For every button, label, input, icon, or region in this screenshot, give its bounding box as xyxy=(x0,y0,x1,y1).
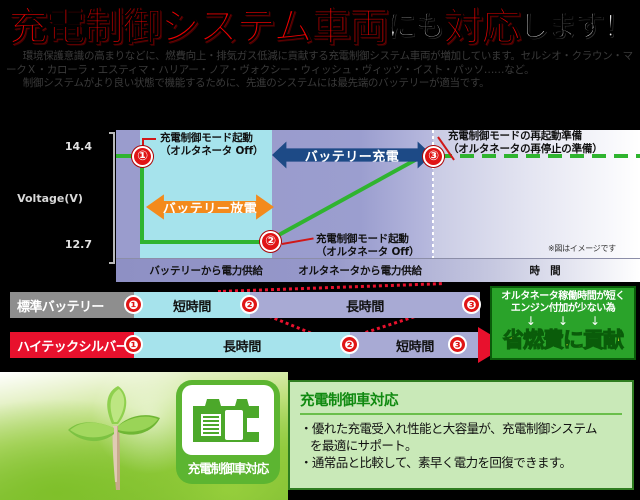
chart-y-axis-title: Voltage(V) xyxy=(8,192,92,205)
chart-marker-2: ② xyxy=(260,231,281,252)
row-standard-seg-short: 短時間 xyxy=(134,292,250,318)
title-red-part-1: 充電制御システム車両 xyxy=(9,0,388,52)
callout-1-title: 充電制御モード起動 xyxy=(160,132,263,145)
callout-1-arm xyxy=(142,138,156,140)
x-axis-label-time: 時 間 xyxy=(500,263,590,278)
info-box-item-1-line-2: を最適にサポート。 xyxy=(300,437,622,454)
sprout-illustration xyxy=(62,386,170,498)
callout-3-sub: （オルタネータの再停止の準備） xyxy=(448,143,603,156)
info-box: 充電制御車対応 ・優れた充電受入れ性能と大容量が、充電制御システム を最適にサポ… xyxy=(288,380,634,490)
callout-3: 充電制御モードの再起動準備 （オルタネータの再停止の準備） xyxy=(448,130,603,155)
benefit-headline: 省燃費に貢献 xyxy=(492,328,634,352)
row-hitec-marker-1: ❶ xyxy=(124,335,143,354)
title-white-part-1: にも xyxy=(387,3,443,45)
page-title: 充電制御システム車両 にも 対応 します！ xyxy=(0,0,640,48)
chart-plot-area: バッテリー充電 バッテリー放電 充電制御モード起動 （オルタネータ Off） 充… xyxy=(116,130,640,282)
benefit-line-1: オルタネータ稼働時間が短く xyxy=(492,291,634,303)
row-hitec-marker-2: ❷ xyxy=(340,335,359,354)
bottom-section: 充電制御車対応 充電制御車対応 ・優れた充電受入れ性能と大容量が、充電制御システ… xyxy=(0,372,640,500)
line-seg-low-flat xyxy=(140,240,268,244)
line-seg-drop xyxy=(140,154,144,244)
row-standard-battery: 短時間 長時間 標準バッテリー ❶ ❷ ❸ xyxy=(10,292,480,318)
title-red-part-2: 対応 xyxy=(443,0,519,52)
info-box-title: 充電制御車対応 xyxy=(300,389,622,415)
benefit-callout-box: オルタネータ稼働時間が短く エンジン付加が少ない為 ↓↓↓ 省燃費に貢献 xyxy=(490,286,636,360)
callout-3-title: 充電制御モードの再起動準備 xyxy=(448,130,603,143)
chart-marker-1: ① xyxy=(132,146,153,167)
row-standard-label: 標準バッテリー xyxy=(10,292,134,318)
charge-control-badge: 充電制御車対応 xyxy=(176,380,280,484)
callout-1-sub: （オルタネータ Off） xyxy=(160,145,263,158)
chart-y-axis-cap-bottom xyxy=(109,262,115,264)
lead-paragraph-1: 環境保護意識の高まりなどに、燃費向上・排気ガス低減に貢献する充電制御システム車両… xyxy=(6,50,634,77)
callout-2-title: 充電制御モード起動 xyxy=(316,233,419,246)
comparison-section: 短時間 長時間 標準バッテリー ❶ ❷ ❸ 長時間 短時間 ハイテックシルバーⅡ… xyxy=(0,284,640,368)
chart-y-tick-high: 14.4 xyxy=(50,140,92,153)
info-box-item-1: ・優れた充電受入れ性能と大容量が、充電制御システム を最適にサポート。 xyxy=(300,420,622,454)
info-box-item-2: ・通常品と比較して、素早く電力を回復できます。 xyxy=(300,454,622,471)
badge-label: 充電制御車対応 xyxy=(188,458,269,477)
seedling-photo: 充電制御車対応 xyxy=(0,372,288,500)
x-zone-label-battery: バッテリーから電力供給 xyxy=(136,263,276,278)
row-hitec-seg-long: 長時間 xyxy=(134,332,350,358)
advertisement-page: 充電制御システム車両 にも 対応 します！ 環境保護意識の高まりなどに、燃費向上… xyxy=(0,0,640,500)
x-zone-label-alternator: オルタネータから電力供給 xyxy=(280,263,440,278)
chart-footnote: ※図はイメージです xyxy=(548,243,616,254)
row-standard-marker-3: ❸ xyxy=(462,295,481,314)
badge-inner-panel xyxy=(182,385,274,455)
row-hitec-silver: 長時間 短時間 ハイテックシルバーⅡ ❶ ❷ ❸ xyxy=(10,332,480,358)
lead-paragraph-2: 制御システムがより良い状態で機能するために、先進のシステムには最先端のバッテリー… xyxy=(6,77,634,91)
info-box-item-1-line-1: ・優れた充電受入れ性能と大容量が、充電制御システム xyxy=(300,421,597,436)
battery-icon xyxy=(189,392,267,448)
voltage-chart: Voltage(V) 14.4 12.7 バッテリー充電 xyxy=(0,126,640,282)
row-hitec-label: ハイテックシルバーⅡ xyxy=(10,332,134,358)
chart-marker-3: ③ xyxy=(423,146,444,167)
benefit-arrows-icon: ↓↓↓ xyxy=(492,315,634,328)
row-standard-marker-2: ❷ xyxy=(240,295,259,314)
chart-y-axis-cap-top xyxy=(109,132,115,134)
title-white-part-2: します！ xyxy=(519,3,631,45)
chart-y-axis-line xyxy=(113,132,115,264)
callout-2-sub: （オルタネータ Off） xyxy=(316,246,419,259)
row-standard-seg-long: 長時間 xyxy=(250,292,480,318)
row-standard-marker-1: ❶ xyxy=(124,295,143,314)
lead-paragraphs: 環境保護意識の高まりなどに、燃費向上・排気ガス低減に貢献する充電制御システム車両… xyxy=(6,50,634,91)
row-hitec-marker-3: ❸ xyxy=(448,335,467,354)
callout-2: 充電制御モード起動 （オルタネータ Off） xyxy=(316,233,419,258)
chart-y-tick-low: 12.7 xyxy=(50,238,92,251)
callout-1: 充電制御モード起動 （オルタネータ Off） xyxy=(160,132,263,157)
